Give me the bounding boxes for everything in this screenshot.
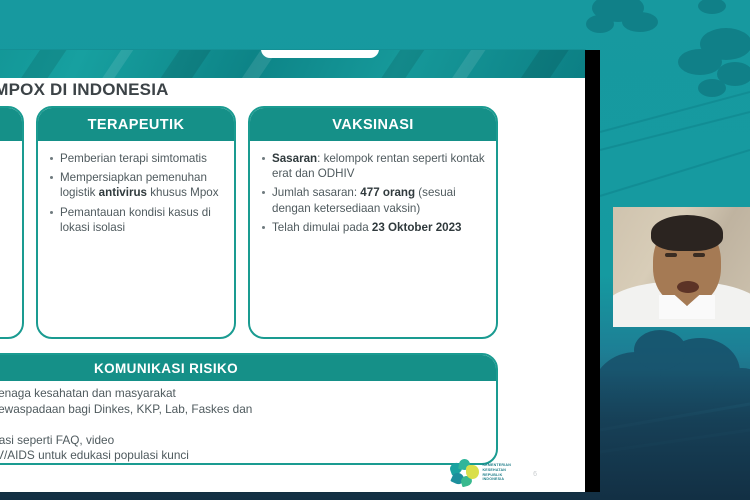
list-item: Penyampaian Surat Edaran kewaspadaan bag…: [0, 402, 482, 418]
list-item: orium Rujukan: [0, 196, 13, 211]
slide-title: ANGAN MPOX DI INDONESIA: [0, 80, 585, 100]
card-komunikasi-title: KOMUNIKASI RISIKO: [0, 355, 496, 381]
card-terapeutik: TERAPEUTIK Pemberian terapi simtomatis M…: [36, 106, 236, 339]
speaker-mouth: [677, 281, 699, 293]
speaker-eye-left: [665, 253, 677, 257]
list-item: miologi: [0, 180, 13, 195]
slide-page-number: 6: [533, 471, 537, 478]
shared-slide: KEMENTERIAN KESEHATAN REPUBLIK INDONESIA…: [0, 50, 585, 492]
logo-line-4: INDONESIA: [482, 477, 511, 482]
card-komunikasi-risiko: KOMUNIKASI RISIKO Sosialisasi kewaspadaa…: [0, 353, 498, 465]
screenshot-stage: KEMENTERIAN KESEHATAN REPUBLIK INDONESIA…: [0, 0, 750, 500]
list-item: Mempersiapkan pemenuhan logistik antivir…: [47, 170, 225, 200]
card-terapeutik-body: Pemberian terapi simtomatis Mempersiapka…: [38, 141, 234, 245]
list-item: Telah dimulai pada 23 Oktober 2023: [259, 220, 487, 235]
list-item: Penyampaian media komunikasi seperti FAQ…: [0, 433, 482, 449]
slide-footer-logo: KEMENTERIAN KESEHATAN REPUBLIK INDONESIA: [450, 459, 511, 486]
screenshare-bezel: [585, 50, 600, 492]
cards-row: ANS tif di seluruh miologi orium Rujukan…: [0, 106, 585, 351]
list-item: Pemberian terapi simtomatis: [47, 151, 225, 166]
card-vaksinasi-body: Sasaran: kelompok rentan seperti kontak …: [250, 141, 496, 245]
card-vaksinasi-title: VAKSINASI: [250, 108, 496, 141]
speaker-video-tile[interactable]: [613, 207, 750, 327]
list-item: Sosialisasi kewaspadaan ke tenaga kesaha…: [0, 386, 482, 402]
speaker-hair: [651, 215, 723, 251]
list-item: Pemantauan kondisi kasus di lokasi isola…: [47, 205, 225, 235]
list-item: erhadap kasus: [0, 213, 13, 228]
kemenkes-logo-text: KEMENTERIAN KESEHATAN REPUBLIK INDONESIA: [482, 463, 511, 481]
card-surveilans-title: ANS: [0, 108, 22, 141]
speaker-eye-right: [693, 253, 705, 257]
list-item: mitra: [0, 417, 482, 433]
kemenkes-logo-icon: [450, 459, 478, 486]
card-terapeutik-title: TERAPEUTIK: [38, 108, 234, 141]
card-surveilans-body: tif di seluruh miologi orium Rujukan erh…: [0, 141, 22, 270]
list-item: tif di seluruh: [0, 151, 13, 166]
list-item: Sasaran: kelompok rentan seperti kontak …: [259, 151, 487, 181]
card-vaksinasi: VAKSINASI Sasaran: kelompok rentan seper…: [248, 106, 498, 339]
list-item: Pemberdayaan mitra LSM HIV/AIDS untuk ed…: [0, 448, 482, 464]
card-surveilans: ANS tif di seluruh miologi orium Rujukan…: [0, 106, 24, 339]
list-item: Jumlah sasaran: 477 orang (sesuai dengan…: [259, 185, 487, 215]
card-komunikasi-body: Sosialisasi kewaspadaan ke tenaga kesaha…: [0, 381, 496, 464]
list-item: aplikasi New: [0, 245, 13, 260]
kemenkes-logo-plate: KEMENTERIAN KESEHATAN REPUBLIK INDONESIA: [261, 50, 379, 58]
